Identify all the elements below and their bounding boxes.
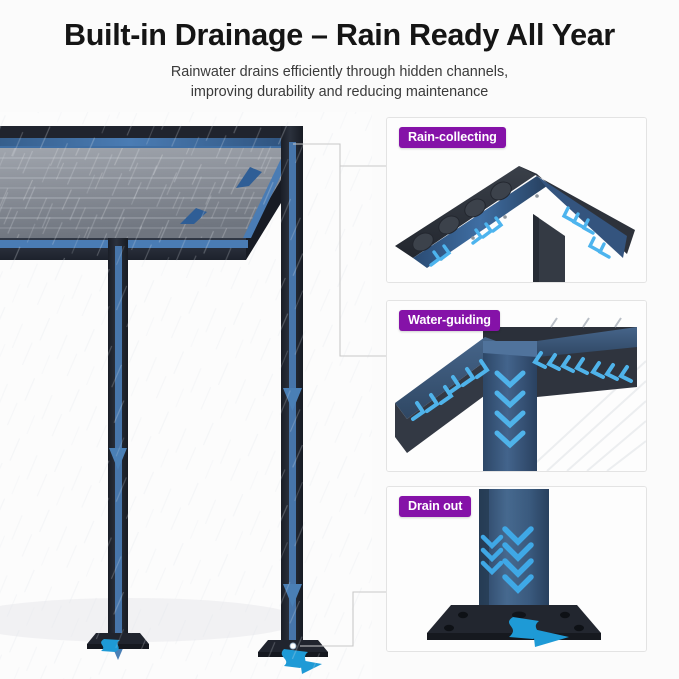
subtitle-line-1: Rainwater drains efficiently through hid… bbox=[0, 62, 679, 82]
corner-post-shade bbox=[533, 214, 539, 282]
rain-overlay bbox=[0, 112, 372, 679]
main-illustration bbox=[0, 112, 372, 679]
callout-panel-drain-out[interactable]: Drain out bbox=[386, 486, 647, 652]
page-title: Built-in Drainage – Rain Ready All Year bbox=[0, 18, 679, 53]
panel-badge-water-guiding: Water-guiding bbox=[399, 310, 500, 331]
panel-badge-rain-collecting: Rain-collecting bbox=[399, 127, 506, 148]
callout-panel-rain-collecting[interactable]: Rain-collecting bbox=[386, 117, 647, 283]
callout-panel-water-guiding[interactable]: Water-guiding bbox=[386, 300, 647, 472]
page-subtitle: Rainwater drains efficiently through hid… bbox=[0, 62, 679, 102]
panel-badge-drain-out: Drain out bbox=[399, 496, 471, 517]
infographic-stage: Built-in Drainage – Rain Ready All Year … bbox=[0, 0, 679, 679]
subtitle-line-2: improving durability and reducing mainte… bbox=[0, 82, 679, 102]
pergola-drawing bbox=[0, 112, 372, 679]
header: Built-in Drainage – Rain Ready All Year … bbox=[0, 0, 679, 112]
